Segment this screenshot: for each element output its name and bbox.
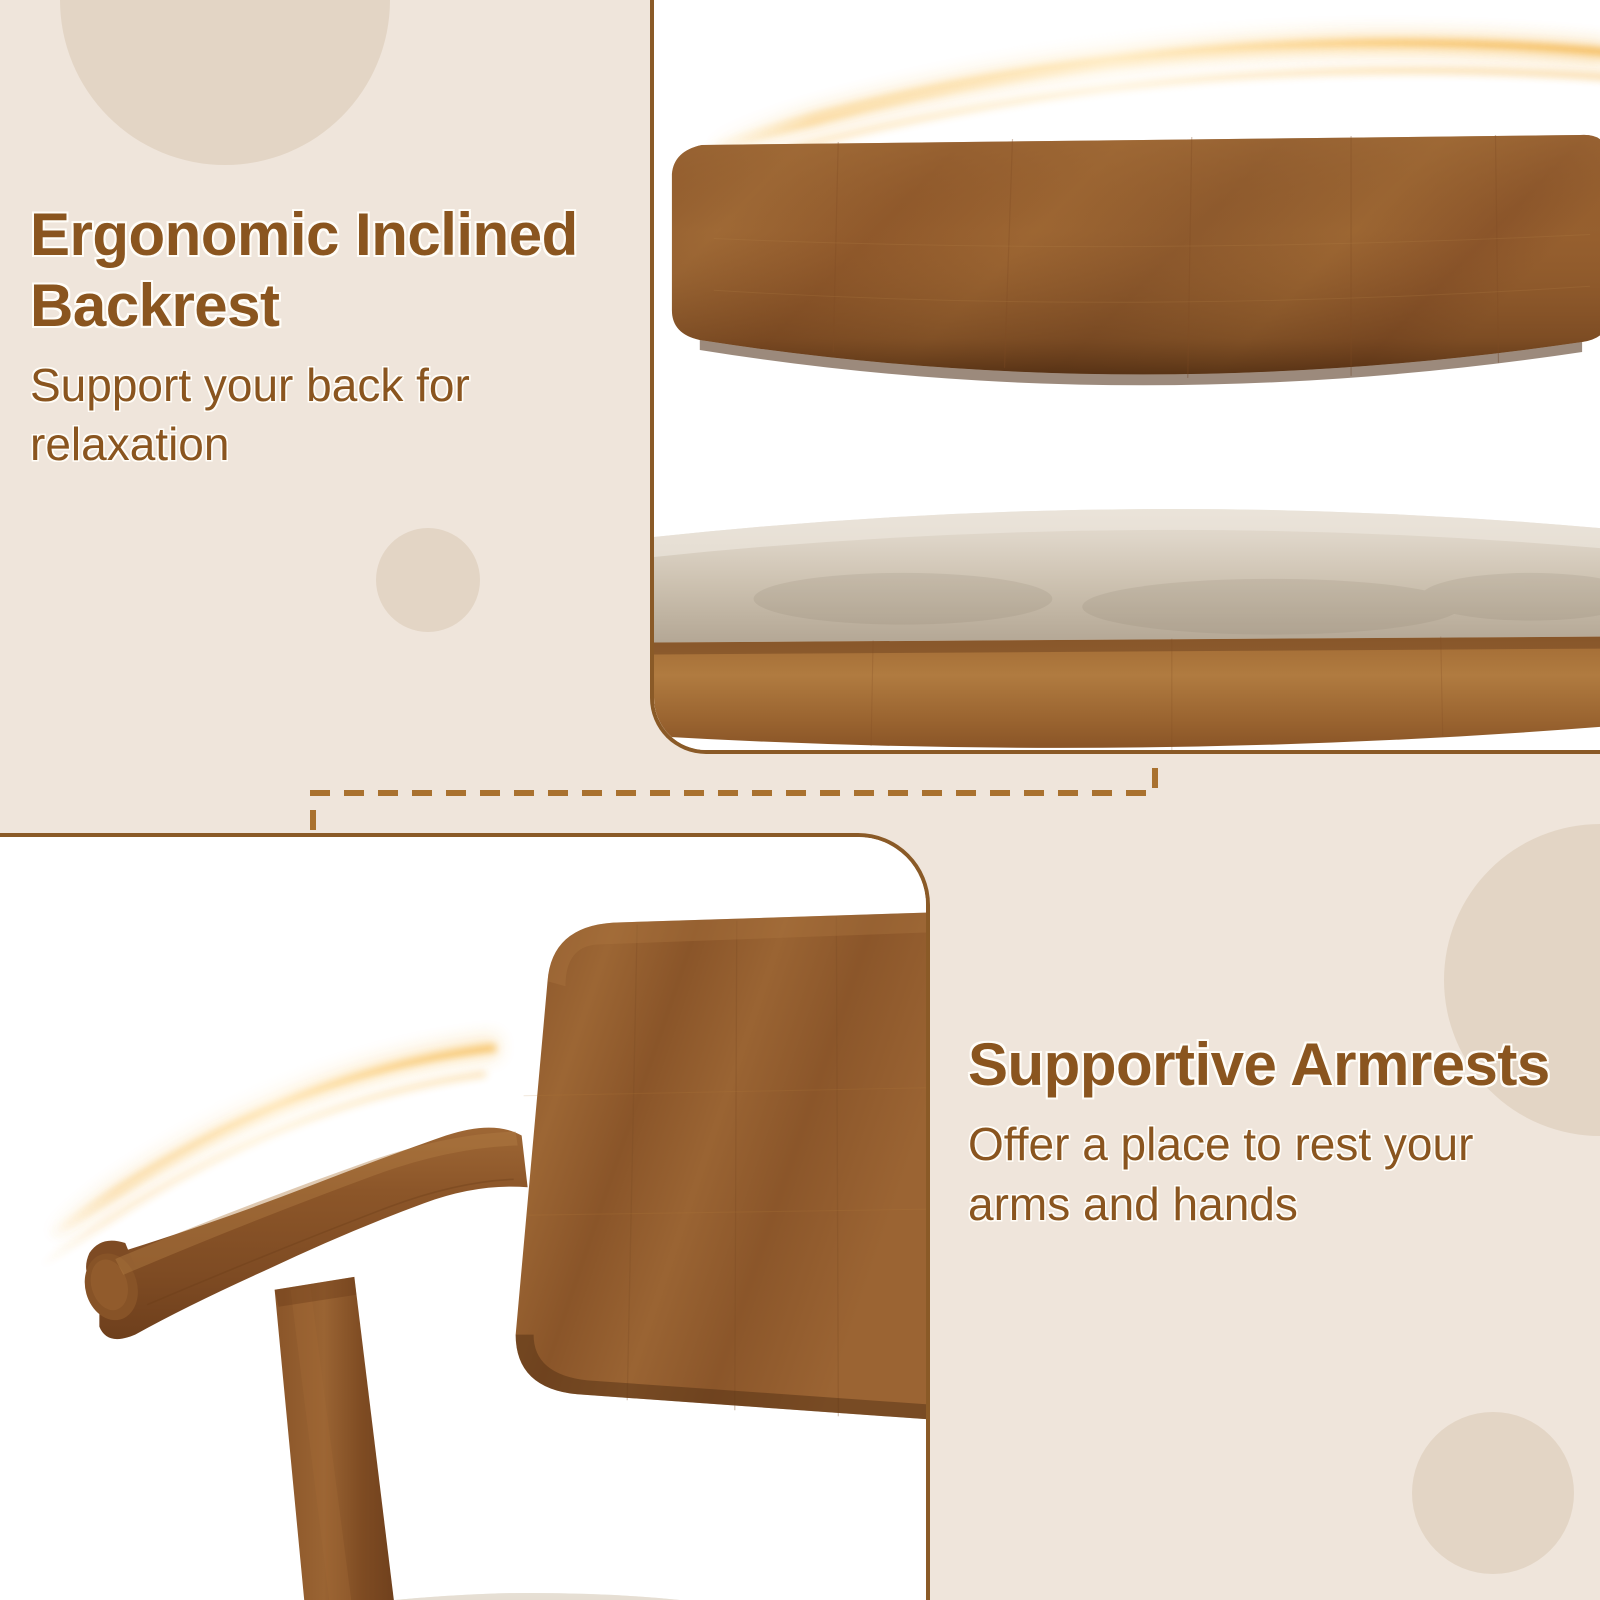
feature-text-backrest: Ergonomic Inclined Backrest Support your… (30, 200, 630, 475)
decorative-circle-mid-left (376, 528, 480, 632)
feature-subtitle-armrest: Offer a place to rest your arms and hand… (968, 1115, 1568, 1235)
connector-dashed-path (313, 752, 1155, 830)
photo-panel-backrest (650, 0, 1600, 754)
decorative-circle-bottom-right (1412, 1412, 1574, 1574)
feature-title-backrest: Ergonomic Inclined Backrest (30, 200, 630, 342)
product-feature-infographic: Ergonomic Inclined Backrest Support your… (0, 0, 1600, 1600)
seat-cushion (654, 509, 1600, 643)
seat-frame-rail (654, 637, 1600, 750)
feature-text-armrest: Supportive Armrests Offer a place to res… (968, 1030, 1568, 1234)
photo-panel-armrest (0, 833, 930, 1600)
feature-title-armrest: Supportive Armrests (968, 1030, 1568, 1101)
wooden-backrest-slat (672, 135, 1600, 385)
armrest-photo (0, 837, 926, 1600)
feature-subtitle-backrest: Support your back for relaxation (30, 356, 630, 476)
backrest-photo (654, 0, 1600, 750)
decorative-circle-top-left (60, 0, 390, 165)
wooden-back-panel (516, 913, 926, 1420)
